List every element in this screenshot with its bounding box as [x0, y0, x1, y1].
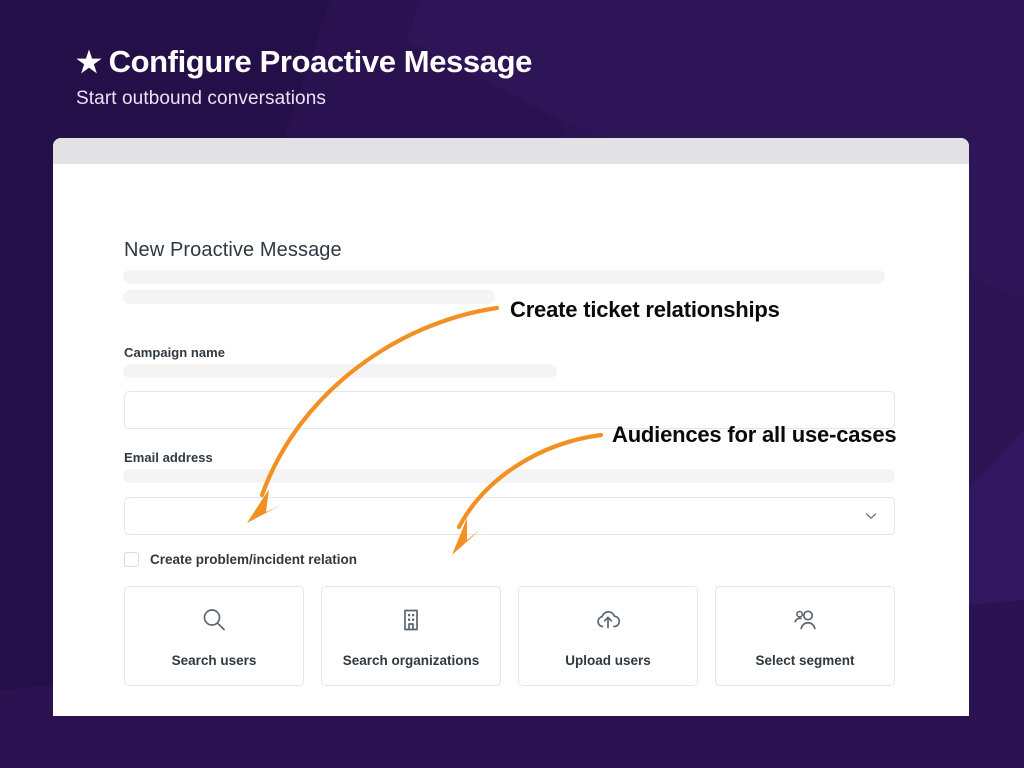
- email-address-select[interactable]: [124, 497, 895, 535]
- email-address-label: Email address: [124, 450, 213, 465]
- option-card-select-segment[interactable]: Select segment: [715, 586, 895, 686]
- option-card-search-users[interactable]: Search users: [124, 586, 304, 686]
- campaign-name-label: Campaign name: [124, 345, 225, 360]
- campaign-name-input[interactable]: [124, 391, 895, 429]
- skeleton-bar: [123, 290, 495, 304]
- option-card-upload-users[interactable]: Upload users: [518, 586, 698, 686]
- window-body: New Proactive Message Campaign name Emai…: [53, 164, 969, 716]
- people-icon: [790, 605, 820, 640]
- option-label: Search users: [172, 653, 257, 668]
- option-label: Search organizations: [343, 653, 480, 668]
- page-subtitle: Start outbound conversations: [76, 85, 532, 113]
- app-window: New Proactive Message Campaign name Emai…: [53, 138, 969, 716]
- option-label: Select segment: [755, 653, 854, 668]
- option-label: Upload users: [565, 653, 651, 668]
- window-titlebar: [53, 138, 969, 164]
- cloud-upload-icon: [593, 605, 623, 640]
- form-title: New Proactive Message: [124, 239, 342, 262]
- page-header: ★Configure Proactive Message Start outbo…: [76, 42, 532, 113]
- checkbox-label: Create problem/incident relation: [150, 552, 357, 567]
- checkbox-input[interactable]: [124, 552, 139, 567]
- chevron-down-icon: [864, 498, 878, 534]
- option-card-search-organizations[interactable]: Search organizations: [321, 586, 501, 686]
- create-relation-checkbox-row[interactable]: Create problem/incident relation: [124, 552, 357, 567]
- skeleton-bar: [123, 270, 885, 284]
- page-title: ★Configure Proactive Message: [76, 42, 532, 83]
- search-icon: [199, 605, 229, 640]
- page-title-text: Configure Proactive Message: [109, 44, 532, 79]
- building-icon: [396, 605, 426, 640]
- skeleton-bar: [123, 469, 895, 483]
- audience-option-grid: Search users Search organizations: [124, 586, 895, 686]
- star-icon: ★: [76, 43, 102, 83]
- skeleton-bar: [123, 364, 557, 378]
